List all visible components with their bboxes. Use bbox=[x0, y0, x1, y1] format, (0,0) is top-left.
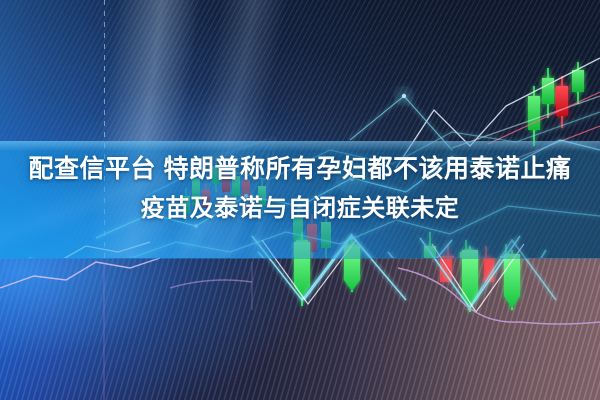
lavender-trend-line-left bbox=[0, 258, 160, 288]
lavender-trend-line bbox=[170, 268, 600, 324]
slab-tick-lines bbox=[104, 262, 252, 400]
news-banner-image: 配查信平台 特朗普称所有孕妇都不该用泰诺止痛 疫苗及泰诺与自闭症关联未定 bbox=[0, 0, 600, 400]
headline-line-1: 配查信平台 特朗普称所有孕妇都不该用泰诺止痛 bbox=[0, 150, 600, 189]
headline-text: 配查信平台 特朗普称所有孕妇都不该用泰诺止痛 疫苗及泰诺与自闭症关联未定 bbox=[0, 150, 600, 228]
headline-line-2: 疫苗及泰诺与自闭症关联未定 bbox=[0, 189, 600, 228]
